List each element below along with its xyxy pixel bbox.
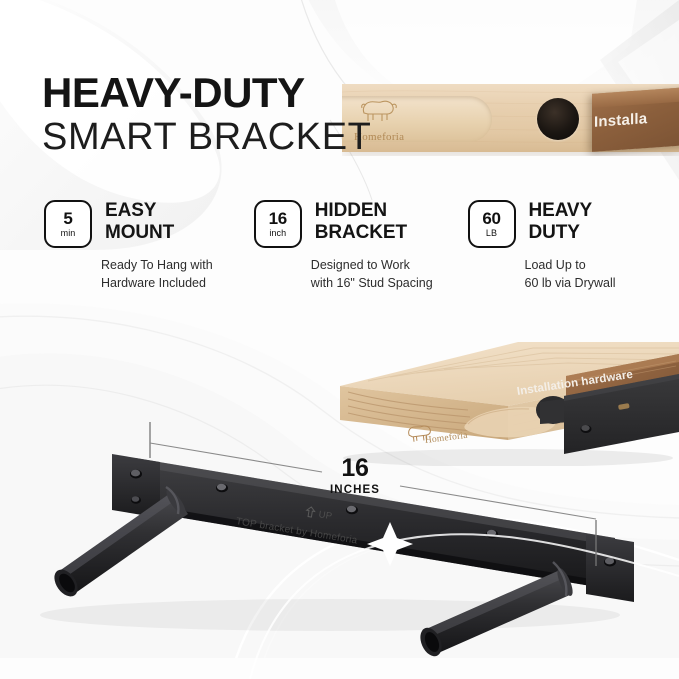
feature-subtext-line-1: Ready To Hang with — [101, 257, 254, 275]
chip-value: 5 — [63, 210, 72, 227]
feature-hidden-bracket: 16 inch HIDDEN BRACKET Designed to Work … — [254, 200, 468, 293]
feature-badges-row: 5 min EASY MOUNT Ready To Hang with Hard… — [44, 200, 644, 293]
feature-subtext: Ready To Hang with Hardware Included — [101, 257, 254, 293]
chip-unit: LB — [486, 229, 497, 238]
feature-subtext-line-2: with 16" Stud Spacing — [311, 275, 468, 293]
feature-subtext-line-1: Load Up to — [525, 257, 644, 275]
hero-title-block: HEAVY-DUTY SMART BRACKET — [42, 72, 371, 159]
product-marketing-image: HEAVY-DUTY SMART BRACKET Installa — [0, 0, 679, 679]
dimension-unit: INCHES — [330, 484, 380, 496]
up-arrow-icon — [304, 505, 317, 519]
badge-chip-5-min: 5 min — [44, 200, 92, 248]
mounting-hole — [537, 98, 579, 140]
chip-value: 16 — [269, 210, 287, 227]
feature-heading-line-1: HIDDEN — [315, 200, 407, 222]
chip-value: 60 — [482, 210, 500, 227]
feature-heading-line-2: BRACKET — [315, 222, 407, 244]
title-line-1: HEAVY-DUTY — [42, 72, 371, 114]
feature-heading-line-2: MOUNT — [105, 222, 174, 244]
feature-subtext-line-2: 60 lb via Drywall — [525, 275, 644, 293]
badge-chip-60-lb: 60 LB — [468, 200, 516, 248]
feature-subtext: Load Up to 60 lb via Drywall — [525, 257, 644, 293]
title-line-2: SMART BRACKET — [42, 116, 371, 159]
feature-heading-line-1: HEAVY — [529, 200, 593, 222]
dimension-value: 16 — [330, 456, 380, 481]
feature-subtext-line-1: Designed to Work — [311, 257, 468, 275]
feature-subtext-line-2: Hardware Included — [101, 275, 254, 293]
feature-heading: EASY MOUNT — [105, 200, 174, 245]
feature-heading: HEAVY DUTY — [529, 200, 593, 245]
feature-subtext: Designed to Work with 16" Stud Spacing — [311, 257, 468, 293]
feature-heading-line-2: DUTY — [529, 222, 593, 244]
chip-unit: inch — [269, 229, 286, 238]
feature-heading: HIDDEN BRACKET — [315, 200, 407, 245]
top-product-photo: Installa Homeforia — [342, 84, 679, 156]
feature-heading-line-1: EASY — [105, 200, 174, 222]
feature-heavy-duty: 60 LB HEAVY DUTY Load Up to 60 lb via Dr… — [468, 200, 644, 293]
dimension-label: 16 INCHES — [330, 456, 380, 496]
bracket-up-label: UP — [318, 509, 333, 522]
badge-chip-16-inch: 16 inch — [254, 200, 302, 248]
feature-easy-mount: 5 min EASY MOUNT Ready To Hang with Hard… — [44, 200, 254, 293]
chip-unit: min — [61, 229, 76, 238]
